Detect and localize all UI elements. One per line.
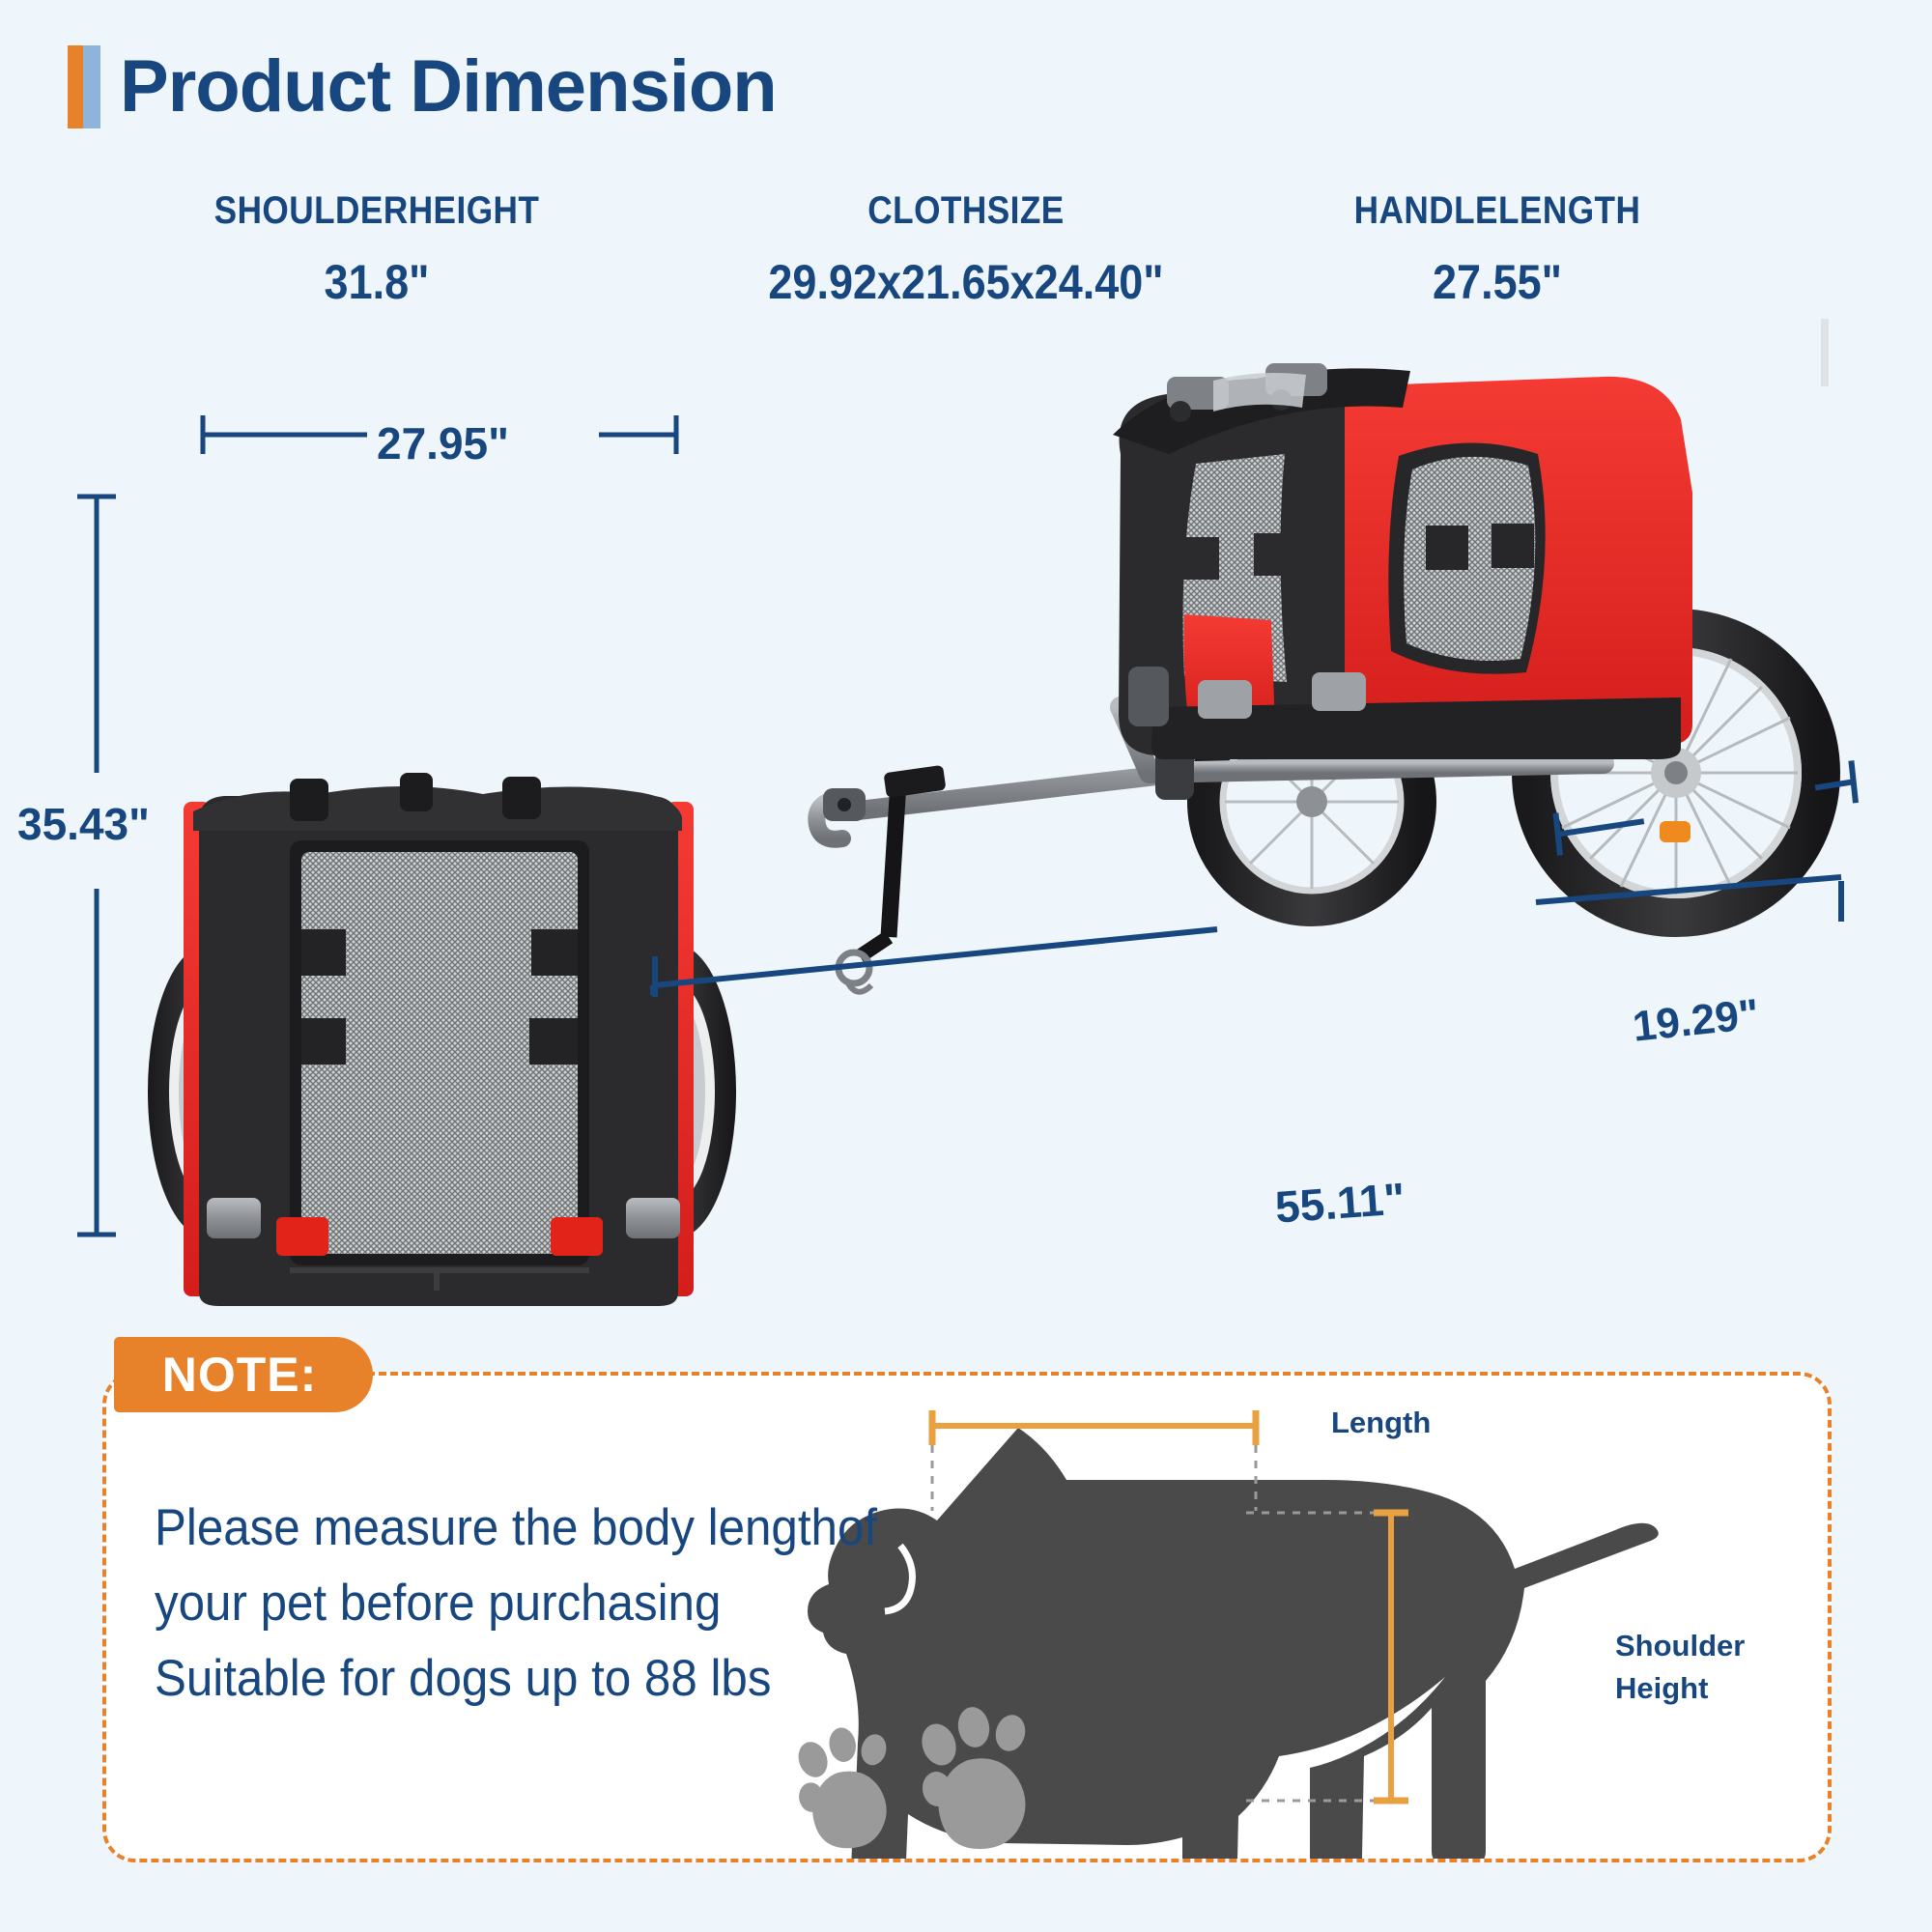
rear-strap-center — [400, 773, 433, 811]
rear-strap-left — [290, 779, 328, 821]
rear-reflector-left — [276, 1217, 328, 1256]
note-text: Please measure the body lengthof your pe… — [155, 1491, 900, 1717]
spec-clothsize: CLOTHSIZE 29.92x21.65x24.40" — [676, 189, 1256, 310]
spec-handlelength-value: 27.55" — [1280, 254, 1715, 310]
product-side-view — [816, 319, 1932, 992]
page-title-text: Product Dimension — [120, 45, 777, 128]
page-title: Product Dimension — [68, 41, 777, 133]
rear-velcro-left — [301, 929, 346, 976]
title-accent-bar-blue — [83, 45, 100, 128]
spec-clothsize-label: CLOTHSIZE — [711, 189, 1221, 233]
rear-strap-right — [502, 777, 541, 819]
spec-shoulderheight: SHOULDERHEIGHT 31.8" — [68, 189, 686, 310]
dimension-label-length: 55.11" — [1273, 1172, 1406, 1233]
spec-handlelength-label: HANDLELENGTH — [1285, 189, 1710, 233]
side-reflector-a — [1198, 680, 1252, 719]
note-line-3: Suitable for dogs up to 88 lbs — [155, 1641, 900, 1717]
spec-summary-row: SHOULDERHEIGHT 31.8" CLOTHSIZE 29.92x21.… — [0, 189, 1932, 325]
dimension-label-width: 27.95" — [377, 417, 509, 469]
spec-shoulderheight-label: SHOULDERHEIGHT — [104, 189, 648, 233]
product-images-svg — [0, 319, 1932, 1314]
note-line-2: your pet before purchasing — [155, 1566, 900, 1641]
safety-flag — [1821, 319, 1932, 386]
dog-shoulder-height-label-line2: Height — [1615, 1667, 1745, 1710]
rear-top-lid — [193, 786, 682, 831]
title-accent-bar-orange — [68, 45, 83, 128]
infographic-page: Product Dimension SHOULDERHEIGHT 31.8" C… — [0, 0, 1932, 1932]
side-reflector-b — [1312, 672, 1366, 711]
product-illustration-stage — [0, 319, 1932, 1314]
dog-length-label: Length — [1331, 1406, 1431, 1440]
rear-velcro-right — [531, 929, 578, 976]
rear-velcro-left-lower — [301, 1018, 346, 1065]
paw-print-small — [794, 1725, 890, 1848]
dog-shoulder-height-label: Shoulder Height — [1615, 1625, 1745, 1710]
rear-reflector-right — [551, 1217, 603, 1256]
note-badge: NOTE: — [114, 1337, 373, 1412]
spec-handlelength: HANDLELENGTH 27.55" — [1256, 189, 1739, 310]
dog-shoulder-height-label-line1: Shoulder — [1615, 1625, 1745, 1667]
spec-shoulderheight-value: 31.8" — [99, 254, 655, 310]
product-rear-view — [148, 773, 736, 1306]
dimension-line-left-height — [77, 497, 116, 1235]
spec-clothsize-value: 29.92x21.65x24.40" — [705, 254, 1227, 310]
dimension-label-height: 35.43" — [17, 798, 150, 850]
rear-velcro-right-lower — [529, 1018, 578, 1065]
note-line-1: Please measure the body lengthof — [155, 1491, 900, 1566]
